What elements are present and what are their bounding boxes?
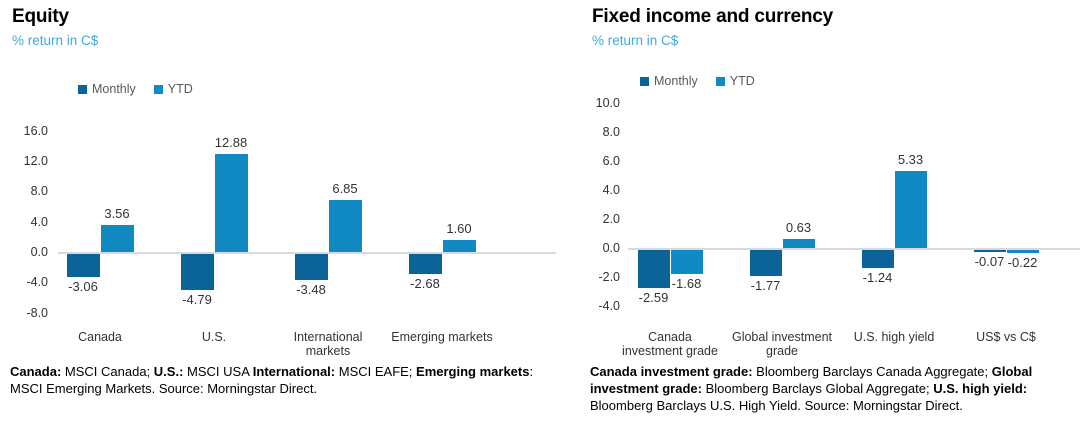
y-axis-tick-label: 6.0 <box>580 154 620 168</box>
x-axis-category-label: Emerging markets <box>378 330 506 344</box>
x-axis-category-label: Canada investment grade <box>607 330 733 358</box>
footnote-segment: Canada investment grade: <box>590 364 753 379</box>
y-axis-tick-label: 10.0 <box>580 96 620 110</box>
footnote-segment: U.S. high yield: <box>933 381 1027 396</box>
bar-ytd-2[interactable] <box>329 200 362 252</box>
y-axis-tick-label: -8.0 <box>0 306 48 320</box>
footnote-segment: U.S.: <box>154 364 184 379</box>
y-axis-tick-label: 4.0 <box>0 215 48 229</box>
y-axis-tick-label: 8.0 <box>0 184 48 198</box>
bar-value-label: 6.85 <box>332 181 357 196</box>
bar-value-label: -0.22 <box>1008 255 1038 270</box>
footnote-segment: MSCI EAFE; <box>335 364 416 379</box>
bar-monthly-0[interactable] <box>67 254 100 277</box>
bar-value-label: -3.48 <box>296 282 326 297</box>
bar-ytd-3[interactable] <box>443 240 476 252</box>
y-axis-tick-label: -2.0 <box>580 270 620 284</box>
bar-monthly-3[interactable] <box>409 254 442 274</box>
bar-value-label: 3.56 <box>104 206 129 221</box>
equity-panel: Equity % return in C$ Monthly YTD 16.012… <box>0 0 560 445</box>
bar-value-label: -4.79 <box>182 292 212 307</box>
bar-ytd-2[interactable] <box>895 171 927 248</box>
y-axis-tick-label: -4.0 <box>0 275 48 289</box>
bar-monthly-3[interactable] <box>974 250 1006 252</box>
equity-footnote: Canada: MSCI Canada; U.S.: MSCI USA Inte… <box>10 363 535 397</box>
bar-value-label: -0.07 <box>975 254 1005 269</box>
bar-monthly-2[interactable] <box>862 250 894 268</box>
bar-value-label: -1.24 <box>863 270 893 285</box>
fixed-income-footnote: Canada investment grade: Bloomberg Barcl… <box>590 363 1084 414</box>
y-axis-tick-label: 8.0 <box>580 125 620 139</box>
fixed-income-panel: Fixed income and currency % return in C$… <box>580 0 1084 445</box>
bar-ytd-0[interactable] <box>671 250 703 274</box>
bar-monthly-1[interactable] <box>750 250 782 276</box>
bar-monthly-0[interactable] <box>638 250 670 288</box>
footnote-segment: Bloomberg Barclays Canada Aggregate; <box>753 364 992 379</box>
y-axis-tick-label: 12.0 <box>0 154 48 168</box>
footnote-segment: MSCI Canada; <box>61 364 154 379</box>
y-axis-tick-label: -4.0 <box>580 299 620 313</box>
bar-monthly-1[interactable] <box>181 254 214 290</box>
bar-value-label: 12.88 <box>215 135 248 150</box>
bar-value-label: -1.68 <box>672 276 702 291</box>
bar-value-label: 5.33 <box>898 152 923 167</box>
bar-value-label: -2.68 <box>410 276 440 291</box>
y-axis-tick-label: 4.0 <box>580 183 620 197</box>
x-axis-category-label: Canada <box>36 330 164 344</box>
bar-value-label: 0.63 <box>786 220 811 235</box>
bar-value-label: 1.60 <box>446 221 471 236</box>
bar-value-label: -1.77 <box>751 278 781 293</box>
x-axis-category-label: U.S. <box>150 330 278 344</box>
x-axis-category-label: U.S. high yield <box>831 330 957 344</box>
bar-ytd-3[interactable] <box>1007 250 1039 253</box>
footnote-segment: Emerging markets <box>416 364 529 379</box>
y-axis-tick-label: 0.0 <box>580 241 620 255</box>
bar-value-label: -3.06 <box>68 279 98 294</box>
y-axis-tick-label: 2.0 <box>580 212 620 226</box>
x-axis-category-label: International markets <box>264 330 392 358</box>
y-axis-tick-label: 16.0 <box>0 124 48 138</box>
bar-monthly-2[interactable] <box>295 254 328 280</box>
y-axis-tick-label: 0.0 <box>0 245 48 259</box>
footnote-segment: International: <box>253 364 335 379</box>
footnote-segment: Canada: <box>10 364 61 379</box>
footnote-segment: Bloomberg Barclays U.S. High Yield. Sour… <box>590 398 963 413</box>
bar-value-label: -2.59 <box>639 290 669 305</box>
bar-ytd-1[interactable] <box>783 239 815 248</box>
x-axis-category-label: Global investment grade <box>719 330 845 358</box>
bar-ytd-0[interactable] <box>101 225 134 252</box>
x-axis-category-label: US$ vs C$ <box>943 330 1069 344</box>
bar-ytd-1[interactable] <box>215 154 248 252</box>
footnote-segment: MSCI USA <box>183 364 252 379</box>
footnote-segment: Bloomberg Barclays Global Aggregate; <box>702 381 933 396</box>
